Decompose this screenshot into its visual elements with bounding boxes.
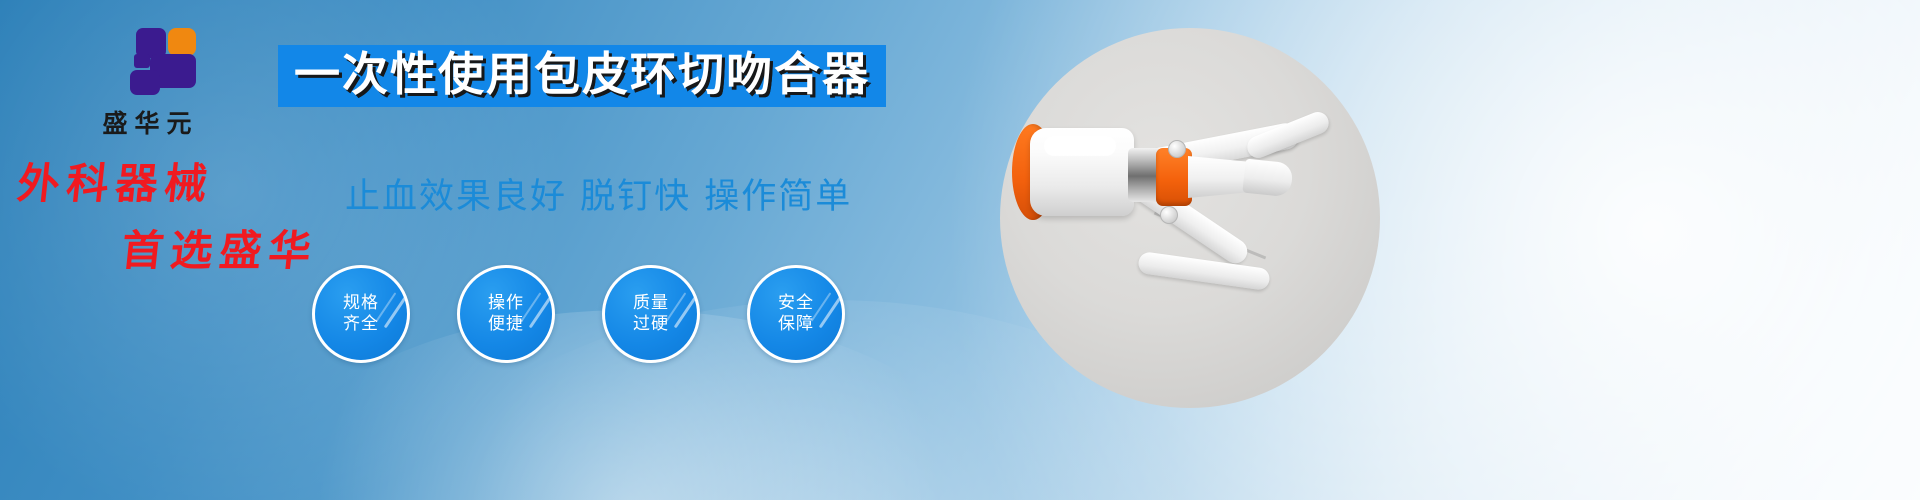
device-tip [1242, 159, 1293, 198]
feature-badge-1[interactable]: 规格 齐全 [312, 265, 410, 363]
feature-badge-3-line1: 质量 [633, 293, 669, 314]
subtitle: 止血效果良好 脱钉快 操作简单 [345, 168, 852, 219]
device-pivot-upper [1168, 140, 1186, 158]
brand-logo[interactable]: 盛华元 [62, 28, 232, 140]
feature-badge-2-line2: 便捷 [488, 314, 524, 335]
logo-square-purple-link [134, 54, 150, 68]
main-title-bar: 一次性使用包皮环切吻合器 [278, 45, 886, 107]
page-title: 一次性使用包皮环切吻合器 [294, 51, 870, 97]
feature-badge-4-line2: 保障 [778, 314, 814, 335]
feature-badge-list: 规格 齐全 操作 便捷 质量 过硬 安全 保障 [312, 265, 845, 363]
feature-badge-2[interactable]: 操作 便捷 [457, 265, 555, 363]
slogan-line-1: 外科器械 [15, 150, 217, 211]
feature-badge-3[interactable]: 质量 过硬 [602, 265, 700, 363]
device-shaft [1188, 156, 1250, 198]
device-arm-lower-tip [1137, 251, 1271, 291]
brand-cube-logo-icon [110, 28, 184, 88]
device-arm-upper-tip [1244, 109, 1332, 162]
brand-name: 盛华元 [62, 104, 232, 140]
feature-badge-1-line2: 齐全 [343, 314, 379, 335]
device-pivot-lower [1160, 206, 1178, 224]
feature-badge-4-line1: 安全 [778, 293, 814, 314]
product-banner: 盛华元 一次性使用包皮环切吻合器 外科器械 首选盛华 止血效果良好 脱钉快 操作… [0, 0, 1920, 500]
logo-square-orange [168, 28, 196, 56]
device-bell-highlight [1044, 136, 1116, 156]
feature-badge-4[interactable]: 安全 保障 [747, 265, 845, 363]
red-calligraphy-slogan: 外科器械 首选盛华 [18, 150, 318, 278]
feature-badge-2-line1: 操作 [488, 293, 524, 314]
slogan-line-2: 首选盛华 [119, 217, 321, 278]
feature-badge-3-line2: 过硬 [633, 314, 669, 335]
logo-square-purple-bottom [130, 70, 160, 95]
feature-badge-1-line1: 规格 [343, 293, 379, 314]
product-image [1000, 28, 1380, 408]
